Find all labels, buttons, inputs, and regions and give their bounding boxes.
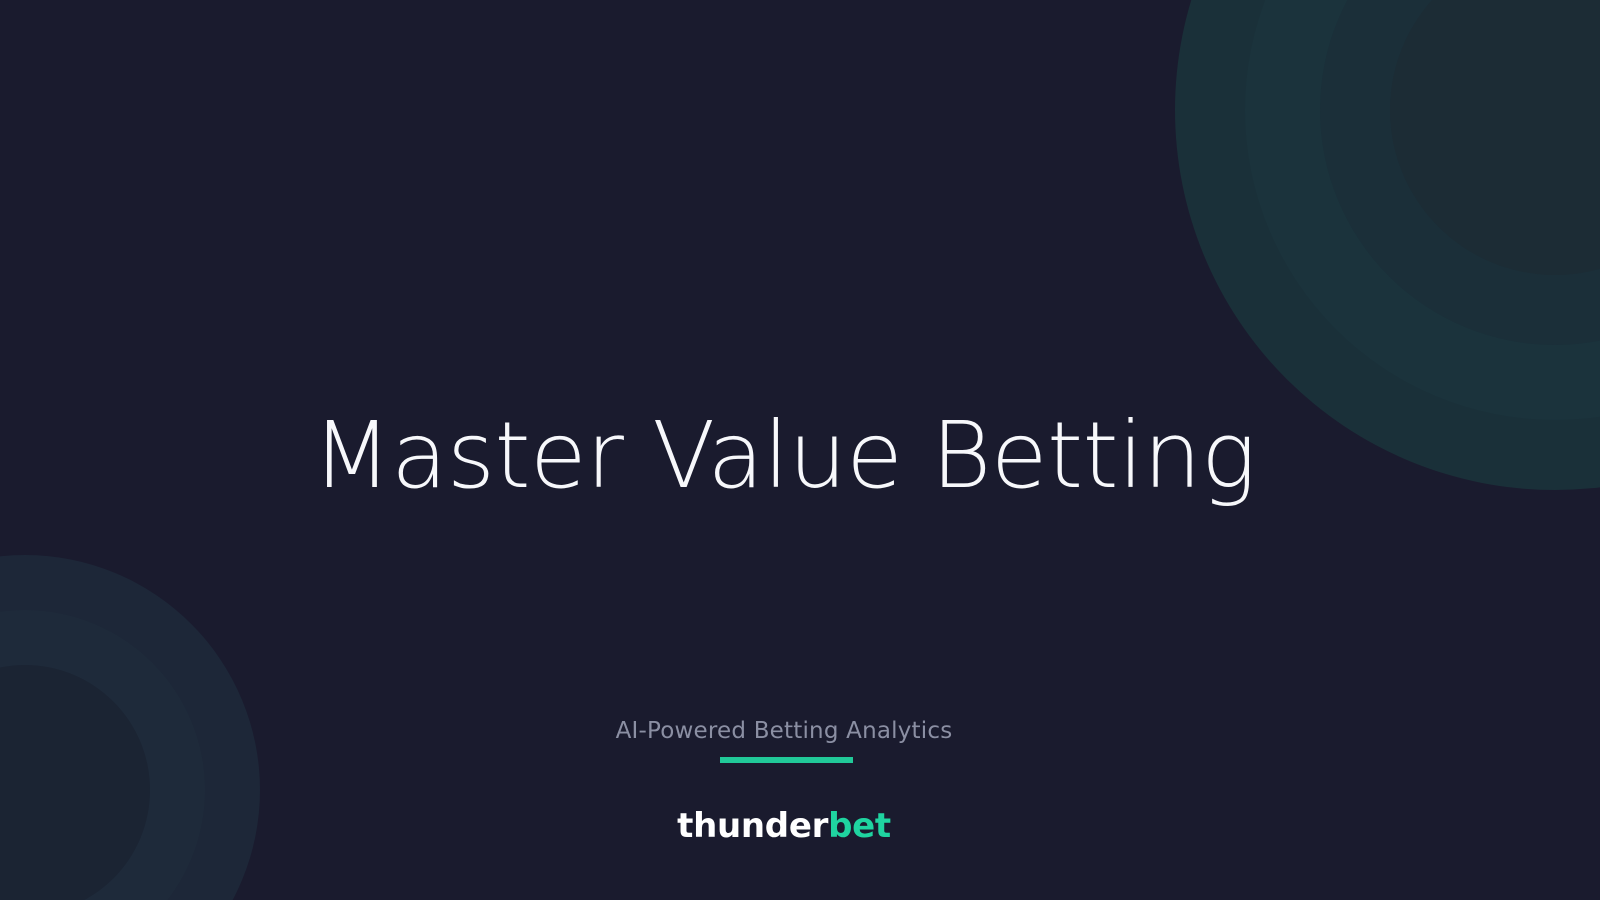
slide-title: Master Value Betting [0,406,1568,505]
logo-primary-text: thunder [677,806,828,846]
title-slide: Master Value Betting AI-Powered Betting … [0,0,1600,900]
logo-accent-text: bet [828,806,891,846]
subtitle-container: AI-Powered Betting Analytics [0,718,1568,744]
accent-underline-bar [720,757,853,763]
slide-subtitle: AI-Powered Betting Analytics [616,718,953,744]
brand-logo: thunderbet [0,806,1568,846]
slide-content: Master Value Betting AI-Powered Betting … [0,0,1600,900]
subtitle-text: AI-Powered Betting Analytics [616,718,953,744]
